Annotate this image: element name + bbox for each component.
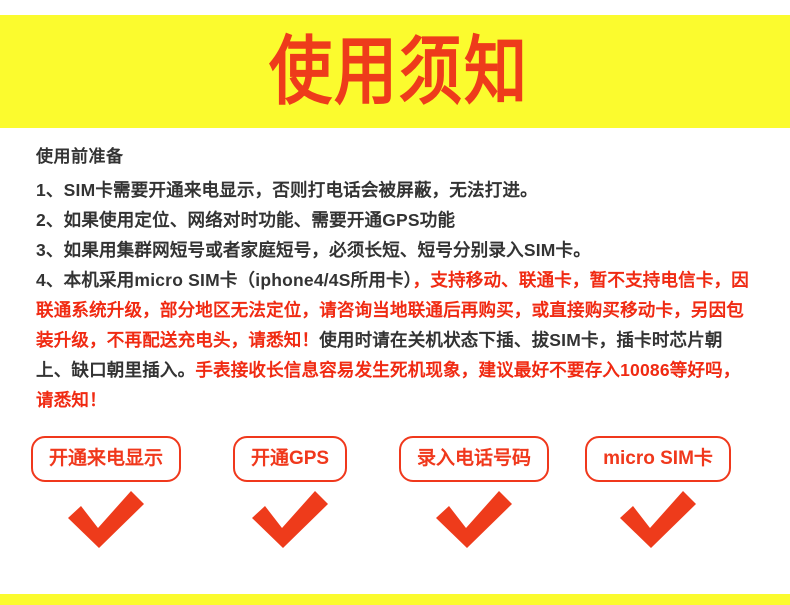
check-cell-4 [566,490,750,550]
instruction-item-2: 2、如果使用定位、网络对时功能、需要开通GPS功能 [36,205,756,235]
instruction-item-3: 3、如果用集群网短号或者家庭短号，必须长短、短号分别录入SIM卡。 [36,235,756,265]
instructions-section: 使用前准备 1、SIM卡需要开通来电显示，否则打电话会被屏蔽，无法打进。 2、如… [0,128,790,415]
check-mark-icon [65,490,147,550]
check-cell-2 [198,490,382,550]
header-banner: 使用须知 [0,15,790,128]
pill-button-micro-sim[interactable]: micro SIM卡 [585,436,731,482]
bottom-yellow-strip [0,594,790,605]
check-mark-icon [617,490,699,550]
section-subheading: 使用前准备 [36,146,756,169]
feature-pill-row: 开通来电显示 开通GPS 录入电话号码 micro SIM卡 [0,436,790,482]
pill-cell-3: 录入电话号码 [382,436,566,482]
pill-cell-2: 开通GPS [198,436,382,482]
check-mark-icon [433,490,515,550]
pill-button-gps[interactable]: 开通GPS [233,436,347,482]
pill-button-enter-phone-number[interactable]: 录入电话号码 [399,436,549,482]
pill-button-caller-id[interactable]: 开通来电显示 [31,436,181,482]
instruction-item-4: 4、本机采用micro SIM卡（iphone4/4S所用卡），支持移动、联通卡… [36,265,756,415]
check-cell-3 [382,490,566,550]
pill-cell-4: micro SIM卡 [566,436,750,482]
check-mark-row [0,490,790,550]
instruction-item-1: 1、SIM卡需要开通来电显示，否则打电话会被屏蔽，无法打进。 [36,175,756,205]
check-cell-1 [14,490,198,550]
instruction-item-4-segment-black-1: 4、本机采用micro SIM卡（iphone4/4S所用卡） [36,270,413,290]
check-mark-icon [249,490,331,550]
pill-cell-1: 开通来电显示 [14,436,198,482]
page-title: 使用须知 [269,34,529,108]
top-white-margin [0,0,790,15]
